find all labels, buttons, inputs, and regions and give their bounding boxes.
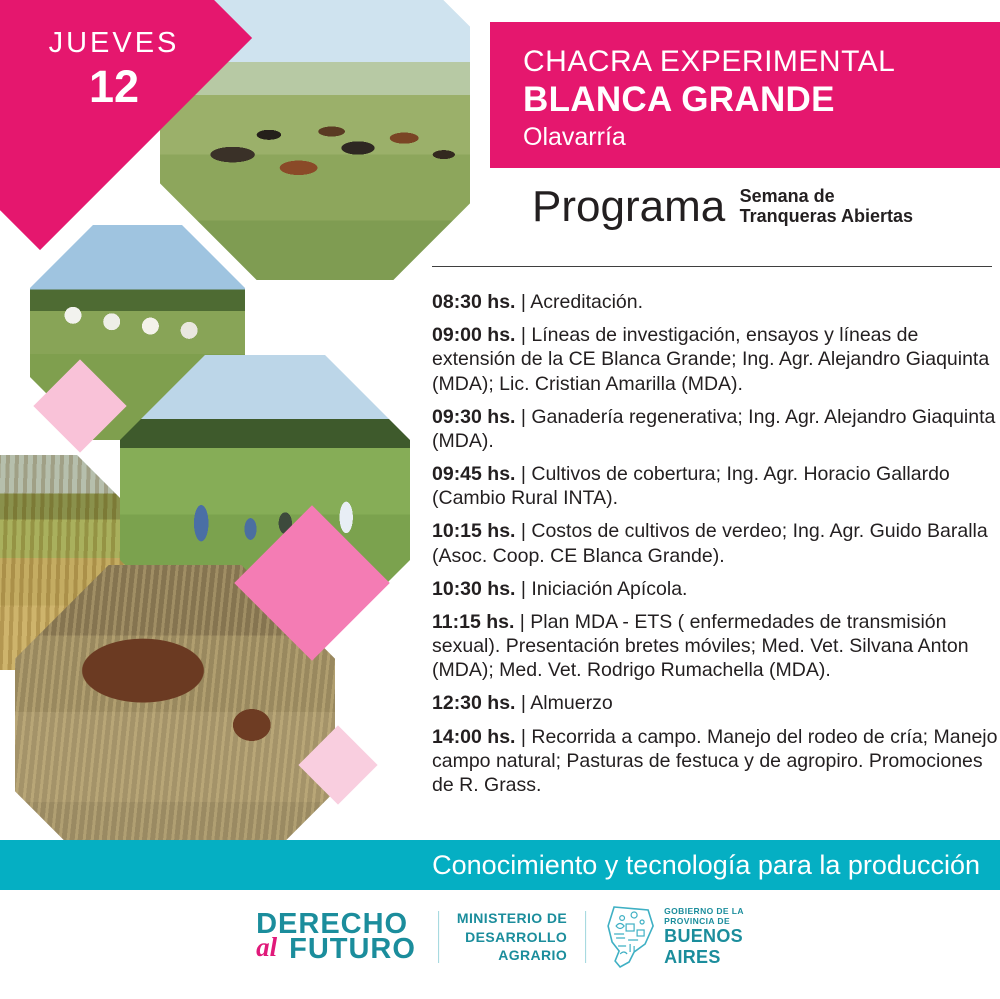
program-heading: Programa Semana de Tranqueras Abiertas	[532, 185, 913, 229]
schedule-list: 08:30 hs. | Acreditación.09:00 hs. | Lín…	[432, 290, 998, 806]
footer-slogan: Conocimiento y tecnología para la produc…	[432, 850, 980, 881]
schedule-item: 10:15 hs. | Costos de cultivos de verdeo…	[432, 519, 998, 567]
schedule-item-time: 09:30 hs.	[432, 406, 515, 428]
ba-aires-line: AIRES	[664, 947, 744, 967]
logo-group: DERECHO FUTURO al MINISTERIO DE DESARROL…	[256, 904, 744, 970]
day-badge: JUEVES 12	[24, 28, 204, 111]
schedule-item-time: 12:30 hs.	[432, 692, 515, 714]
schedule-item-time: 10:30 hs.	[432, 578, 515, 600]
schedule-item: 10:30 hs. | Iniciación Apícola.	[432, 577, 998, 601]
day-badge-number: 12	[24, 62, 204, 112]
schedule-item-separator: |	[515, 291, 530, 313]
schedule-item: 09:45 hs. | Cultivos de cobertura; Ing. …	[432, 462, 998, 510]
logo-divider-1	[438, 911, 439, 963]
logo-ministerio-desarrollo-agrario: MINISTERIO DE DESARROLLO AGRARIO	[457, 909, 567, 966]
header-line-chacra-experimental: CHACRA EXPERIMENTAL	[523, 45, 895, 79]
schedule-item-separator: |	[515, 692, 530, 714]
logo-futuro-word: FUTURO	[289, 935, 416, 964]
schedule-item-separator: |	[515, 463, 531, 485]
schedule-item-separator: |	[515, 324, 531, 346]
day-badge-weekday: JUEVES	[24, 28, 204, 60]
ba-buenos-line: BUENOS	[664, 926, 744, 946]
schedule-item-time: 09:00 hs.	[432, 324, 515, 346]
schedule-item-time: 14:00 hs.	[432, 726, 515, 748]
header-banner: CHACRA EXPERIMENTAL BLANCA GRANDE Olavar…	[490, 22, 1000, 168]
program-divider-rule	[432, 266, 992, 267]
buenos-aires-text: GOBIERNO DE LA PROVINCIA DE BUENOS AIRES	[664, 907, 744, 966]
schedule-item: 09:00 hs. | Líneas de investigación, ens…	[432, 323, 998, 396]
schedule-item-text: Almuerzo	[530, 692, 612, 714]
schedule-item: 11:15 hs. | Plan MDA - ETS ( enfermedade…	[432, 610, 998, 683]
logo-gobierno-buenos-aires: GOBIERNO DE LA PROVINCIA DE BUENOS AIRES	[604, 904, 744, 970]
schedule-item-time: 11:15 hs.	[432, 611, 514, 633]
logo-divider-2	[585, 911, 586, 963]
schedule-item-separator: |	[514, 611, 530, 633]
program-subtitle: Semana de Tranqueras Abiertas	[740, 186, 913, 226]
header-line-blanca-grande: BLANCA GRANDE	[523, 80, 835, 120]
schedule-item: 09:30 hs. | Ganadería regenerativa; Ing.…	[432, 405, 998, 453]
footer-teal-band: Conocimiento y tecnología para la produc…	[0, 840, 1000, 890]
schedule-item-separator: |	[515, 726, 531, 748]
buenos-aires-province-map-icon	[604, 904, 656, 970]
schedule-item-time: 08:30 hs.	[432, 291, 515, 313]
schedule-item-time: 10:15 hs.	[432, 520, 515, 542]
program-subtitle-line1: Semana de	[740, 186, 913, 206]
ministerio-line-1: MINISTERIO DE	[457, 909, 567, 928]
header-line-olavarria: Olavarría	[523, 123, 626, 152]
logo-al-word: al	[256, 934, 277, 961]
schedule-item-time: 09:45 hs.	[432, 463, 515, 485]
program-subtitle-line2: Tranqueras Abiertas	[740, 206, 913, 226]
schedule-item-text: Acreditación.	[530, 291, 643, 313]
footer-logo-bar: DERECHO FUTURO al MINISTERIO DE DESARROL…	[0, 890, 1000, 999]
schedule-item-separator: |	[515, 578, 531, 600]
logo-derecho-al-futuro: DERECHO FUTURO al	[256, 910, 420, 964]
schedule-item: 12:30 hs. | Almuerzo	[432, 691, 998, 715]
ba-provincia-line: PROVINCIA DE	[664, 917, 744, 927]
schedule-item-text: Iniciación Apícola.	[531, 578, 687, 600]
schedule-item: 08:30 hs. | Acreditación.	[432, 290, 998, 314]
program-title: Programa	[532, 185, 725, 229]
ministerio-line-2: DESARROLLO	[457, 928, 567, 947]
poster-canvas: JUEVES 12 CHACRA EXPERIMENTAL BLANCA GRA…	[0, 0, 1000, 999]
schedule-item-separator: |	[515, 406, 531, 428]
ministerio-line-3: AGRARIO	[457, 946, 567, 965]
schedule-item: 14:00 hs. | Recorrida a campo. Manejo de…	[432, 725, 998, 798]
schedule-item-separator: |	[515, 520, 531, 542]
